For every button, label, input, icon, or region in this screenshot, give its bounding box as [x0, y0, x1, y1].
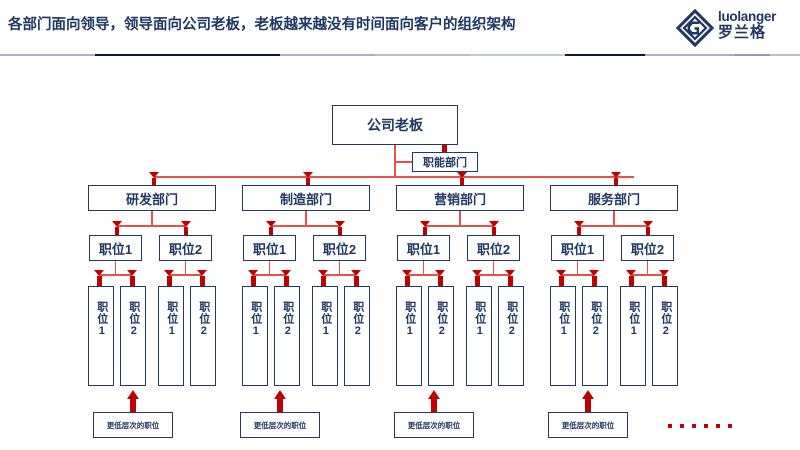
connector-pos-drop	[577, 261, 579, 275]
node-subordinate-2-1-1[interactable]: 职位2	[498, 286, 524, 386]
node-subordinate-1-1-1[interactable]: 职位2	[344, 286, 370, 386]
node-position-1-1[interactable]: 职位2	[313, 235, 366, 261]
arrow-stem-pos	[184, 227, 189, 235]
arrow-head-leaf	[248, 270, 258, 276]
leaf-char: 职位2	[280, 301, 294, 338]
leaf-char: 职位2	[126, 301, 140, 338]
node-department-2[interactable]: 营销部门	[396, 185, 524, 211]
node-subordinate-0-0-1[interactable]: 职位2	[120, 286, 146, 386]
brand-name-cjk: 罗兰格	[718, 24, 794, 42]
leaf-char: 职位1	[248, 301, 262, 338]
luolanger-diamond-logo	[676, 9, 714, 47]
arrow-stem-leaf	[97, 276, 102, 286]
node-subordinate-0-1-1[interactable]: 职位2	[190, 286, 216, 386]
arrow-head-leaf	[127, 270, 137, 276]
arrow-stem-leaf	[508, 276, 513, 286]
arrow-stem-leaf	[405, 276, 410, 286]
arrow-stem-leaf	[167, 276, 172, 286]
connector-dept2-drop	[459, 211, 461, 226]
arrow-stem-callout	[431, 398, 437, 412]
connector-pos-drop	[269, 261, 271, 275]
arrow-stem-dept	[306, 178, 311, 185]
connector-dept1-drop	[305, 211, 307, 226]
arrow-head-leaf	[164, 270, 174, 276]
callout-lower-positions-1[interactable]: 更低层次的职位	[240, 412, 320, 438]
arrow-stem-leaf	[559, 276, 564, 286]
connector-pos-drop	[115, 261, 117, 275]
arrow-stem-leaf	[354, 276, 359, 286]
node-subordinate-3-1-1[interactable]: 职位2	[652, 286, 678, 386]
node-position-2-1[interactable]: 职位2	[467, 235, 520, 261]
arrow-stem-pos	[115, 227, 120, 235]
leaf-char: 职位1	[472, 301, 486, 338]
node-subordinate-2-1-0[interactable]: 职位1	[466, 286, 492, 386]
arrow-stem-leaf	[321, 276, 326, 286]
connector-dept-bus	[154, 176, 634, 178]
callout-lower-positions-3[interactable]: 更低层次的职位	[548, 412, 628, 438]
arrow-stem-leaf	[130, 276, 135, 286]
node-position-2-0[interactable]: 职位1	[397, 235, 450, 261]
leaf-char: 职位1	[94, 301, 108, 338]
arrow-head-leaf	[472, 270, 482, 276]
connector-pos-drop	[647, 261, 649, 275]
ellipsis-dot	[692, 424, 696, 428]
arrow-stem-dept	[614, 178, 619, 185]
arrow-head-leaf	[94, 270, 104, 276]
arrow-head-dept	[457, 172, 467, 178]
leaf-char: 职位2	[350, 301, 364, 338]
node-subordinate-3-0-0[interactable]: 职位1	[550, 286, 576, 386]
arrow-head-leaf	[281, 270, 291, 276]
node-subordinate-3-1-0[interactable]: 职位1	[620, 286, 646, 386]
arrow-head-callout	[127, 390, 139, 399]
arrow-stem-leaf	[662, 276, 667, 286]
arrow-head-leaf	[626, 270, 636, 276]
arrow-stem-pos	[577, 227, 582, 235]
node-department-3[interactable]: 服务部门	[550, 185, 678, 211]
arrow-head-callout	[582, 390, 594, 399]
arrow-stem-leaf	[475, 276, 480, 286]
slide-canvas: 各部门面向领导，领导面向公司老板，老板越来越没有时间面向客户的组织架构 luol…	[0, 0, 800, 450]
arrow-stem-leaf	[629, 276, 634, 286]
ellipsis-dot	[680, 424, 684, 428]
ellipsis-dot	[716, 424, 720, 428]
header-divider-seg	[565, 54, 645, 56]
arrow-stem-dept	[460, 178, 465, 185]
node-position-3-0[interactable]: 职位1	[551, 235, 604, 261]
arrow-head-leaf	[589, 270, 599, 276]
node-subordinate-0-1-0[interactable]: 职位1	[158, 286, 184, 386]
arrow-head-pos	[489, 221, 499, 227]
node-company-boss[interactable]: 公司老板	[332, 105, 458, 145]
arrow-stem-pos	[423, 227, 428, 235]
arrow-stem-pos	[269, 227, 274, 235]
header-divider-seg	[280, 54, 375, 56]
header-divider-seg	[735, 54, 770, 56]
node-subordinate-2-0-1[interactable]: 职位2	[428, 286, 454, 386]
header-divider-seg	[645, 54, 735, 56]
arrow-stem-pos	[646, 227, 651, 235]
arrow-head-leaf	[318, 270, 328, 276]
connector-dept3-drop	[613, 211, 615, 226]
connector-pos-drop	[423, 261, 425, 275]
arrow-stem-leaf	[251, 276, 256, 286]
leaf-char: 职位1	[556, 301, 570, 338]
arrow-stem-callout	[130, 398, 136, 412]
node-subordinate-1-0-0[interactable]: 职位1	[242, 286, 268, 386]
arrow-head-pos	[266, 221, 276, 227]
leaf-char: 职位2	[588, 301, 602, 338]
leaf-char: 职位2	[658, 301, 672, 338]
brand-logo-text: luolanger 罗兰格	[718, 9, 794, 42]
brand-logo: luolanger 罗兰格	[676, 7, 794, 49]
node-department-1[interactable]: 制造部门	[242, 185, 370, 211]
brand-name-latin: luolanger	[718, 9, 794, 24]
arrow-head-leaf	[505, 270, 515, 276]
connector-dept1-bus	[271, 225, 340, 227]
connector-staff	[394, 161, 412, 163]
node-functional-department[interactable]: 职能部门	[412, 152, 478, 172]
arrow-head-pos	[335, 221, 345, 227]
leaf-char: 职位1	[402, 301, 416, 338]
arrow-stem-leaf	[200, 276, 205, 286]
connector-pos-drop	[339, 261, 341, 275]
header-divider-seg	[0, 54, 95, 56]
arrow-head-leaf	[556, 270, 566, 276]
node-subordinate-1-1-0[interactable]: 职位1	[312, 286, 338, 386]
callout-lower-positions-2[interactable]: 更低层次的职位	[394, 412, 474, 438]
leaf-char: 职位2	[504, 301, 518, 338]
arrow-stem-dept	[152, 178, 157, 185]
slide-header: 各部门面向领导，领导面向公司老板，老板越来越没有时间面向客户的组织架构 luol…	[0, 0, 800, 56]
header-divider-seg	[770, 54, 800, 56]
arrow-stem-leaf	[592, 276, 597, 286]
arrow-head-leaf	[351, 270, 361, 276]
connector-pos-drop	[185, 261, 187, 275]
arrow-stem-pos	[338, 227, 343, 235]
node-position-3-1[interactable]: 职位2	[621, 235, 674, 261]
header-divider-seg	[375, 54, 470, 56]
arrow-head-dept	[303, 172, 313, 178]
arrow-stem-callout	[585, 398, 591, 412]
arrow-stem-pos	[492, 227, 497, 235]
node-subordinate-3-0-1[interactable]: 职位2	[582, 286, 608, 386]
connector-dept0-bus	[117, 225, 186, 227]
arrow-head-dept	[611, 172, 621, 178]
node-subordinate-2-0-0[interactable]: 职位1	[396, 286, 422, 386]
node-department-0[interactable]: 研发部门	[88, 185, 216, 211]
arrow-stem-callout	[277, 398, 283, 412]
arrow-head-callout	[428, 390, 440, 399]
leaf-char: 职位2	[434, 301, 448, 338]
ellipsis-dot	[704, 424, 708, 428]
callout-lower-positions-0[interactable]: 更低层次的职位	[93, 412, 173, 438]
arrow-head-leaf	[197, 270, 207, 276]
leaf-char: 职位1	[318, 301, 332, 338]
leaf-char: 职位1	[626, 301, 640, 338]
arrow-head-pos	[420, 221, 430, 227]
node-position-1-0[interactable]: 职位1	[243, 235, 296, 261]
ellipsis-dot	[728, 424, 732, 428]
arrow-head-leaf	[402, 270, 412, 276]
arrow-head-pos	[643, 221, 653, 227]
leaf-char: 职位1	[164, 301, 178, 338]
connector-pos-drop	[493, 261, 495, 275]
header-divider-seg	[95, 54, 280, 56]
leaf-char: 职位2	[196, 301, 210, 338]
connector-dept2-bus	[425, 225, 494, 227]
header-divider-seg	[470, 54, 565, 56]
arrow-stem-leaf	[438, 276, 443, 286]
arrow-head-pos	[574, 221, 584, 227]
page-title: 各部门面向领导，领导面向公司老板，老板越来越没有时间面向客户的组织架构	[8, 15, 658, 35]
arrow-head-pos	[181, 221, 191, 227]
arrow-head-leaf	[659, 270, 669, 276]
arrow-stem-leaf	[284, 276, 289, 286]
arrow-head-dept	[149, 172, 159, 178]
node-position-0-1[interactable]: 职位2	[159, 235, 212, 261]
node-subordinate-0-0-0[interactable]: 职位1	[88, 286, 114, 386]
arrow-head-pos	[112, 221, 122, 227]
node-subordinate-1-0-1[interactable]: 职位2	[274, 286, 300, 386]
ellipsis-dot	[668, 424, 672, 428]
continuation-ellipsis	[668, 424, 732, 428]
connector-dept0-drop	[151, 211, 153, 226]
arrow-head-leaf	[435, 270, 445, 276]
node-position-0-0[interactable]: 职位1	[89, 235, 142, 261]
arrow-head-callout	[274, 390, 286, 399]
connector-dept3-bus	[579, 225, 648, 227]
